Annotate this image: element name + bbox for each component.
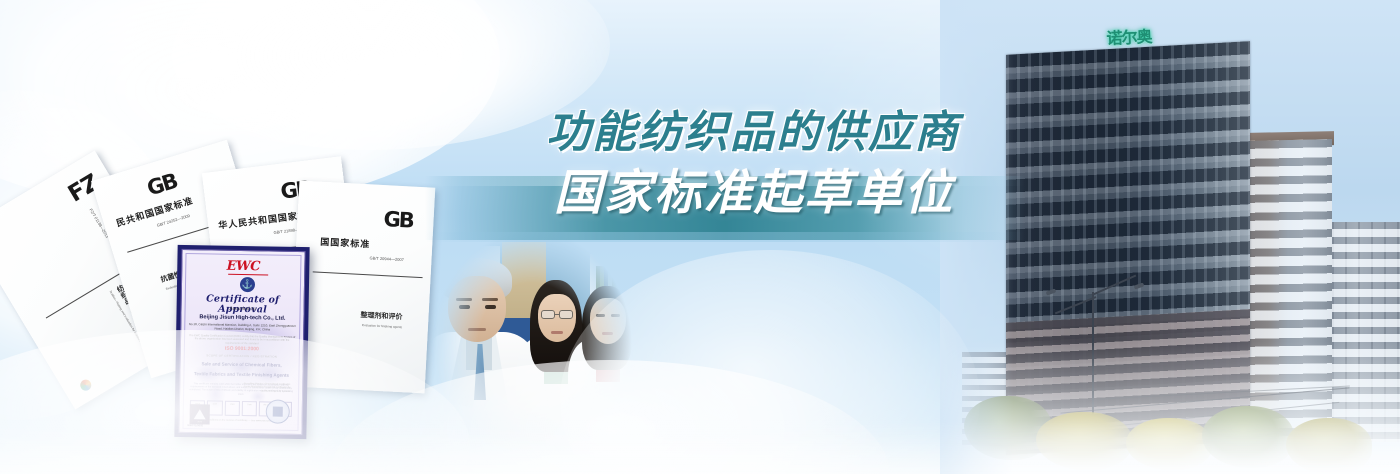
- researcher-center-eyeglass-bridge: [555, 314, 560, 315]
- ukas-accreditation-mark-icon: UKAS: [190, 404, 210, 424]
- rooftop-sign: 诺尔奥: [1089, 20, 1168, 55]
- far-right-tower: [1332, 222, 1400, 442]
- street-tree: [1202, 406, 1294, 468]
- researcher-senior-eyebrow-left: [456, 298, 472, 301]
- ukas-triangle-icon: [194, 409, 206, 419]
- street-tree: [1286, 418, 1372, 474]
- street-tree: [1126, 418, 1212, 470]
- researcher-right-eye-right: [611, 314, 620, 317]
- headline-line-2: 国家标准起草单位: [0, 162, 960, 224]
- promotional-banner: 诺尔奥: [0, 0, 1400, 474]
- standard-code: GB/T 20944—2007: [369, 256, 404, 262]
- researcher-senior-mouth: [468, 328, 486, 331]
- certificate-date-box: Valid: [224, 401, 240, 416]
- standard-subtitle: 整理剂和评价: [360, 312, 402, 321]
- headline: 功能纺织品的供应商 国家标准起草单位: [0, 104, 1030, 254]
- far-right-tower-floors: [1332, 222, 1400, 442]
- headline-line-1: 功能纺织品的供应商: [0, 104, 960, 162]
- certificate-body-text: The EWC Quality Certification Council (E…: [187, 334, 297, 346]
- certificate-of-approval-inner: EWC ⚓ Certificate of Approval Awarded to…: [178, 249, 305, 435]
- researcher-center-eyeglass-left: [541, 310, 555, 319]
- researcher-right-eye-left: [596, 314, 605, 317]
- rooftop-sign-text: 诺尔奥: [1106, 29, 1152, 47]
- standard-divider: [313, 271, 423, 278]
- researcher-center-eyeglass-right: [559, 310, 573, 319]
- ewc-logo: EWC: [182, 259, 304, 274]
- researcher-right-mouth: [602, 332, 613, 335]
- certificate-date-box: Date: [242, 401, 258, 416]
- street-tree: [1036, 412, 1132, 470]
- researcher-right-face: [590, 298, 626, 344]
- ukas-label: UKAS: [190, 421, 210, 423]
- standard-subtitle-en: Evaluation for finishing agents: [362, 324, 402, 329]
- certificate-of-approval: EWC ⚓ Certificate of Approval Awarded to…: [174, 245, 309, 439]
- certificate-number: EWC71/0002: [187, 425, 202, 428]
- certificate-accreditation-text: Accrediting Member of International Cert…: [238, 383, 290, 394]
- researcher-center-mouth: [551, 331, 563, 334]
- researcher-senior-eye-left: [459, 305, 470, 309]
- researcher-senior-face: [448, 276, 506, 342]
- national-emblem-seal-icon: [78, 378, 93, 393]
- researcher-senior-eye-right: [485, 305, 496, 309]
- council-seal-center: [273, 407, 283, 417]
- researcher-senior-eyebrow-right: [482, 298, 498, 301]
